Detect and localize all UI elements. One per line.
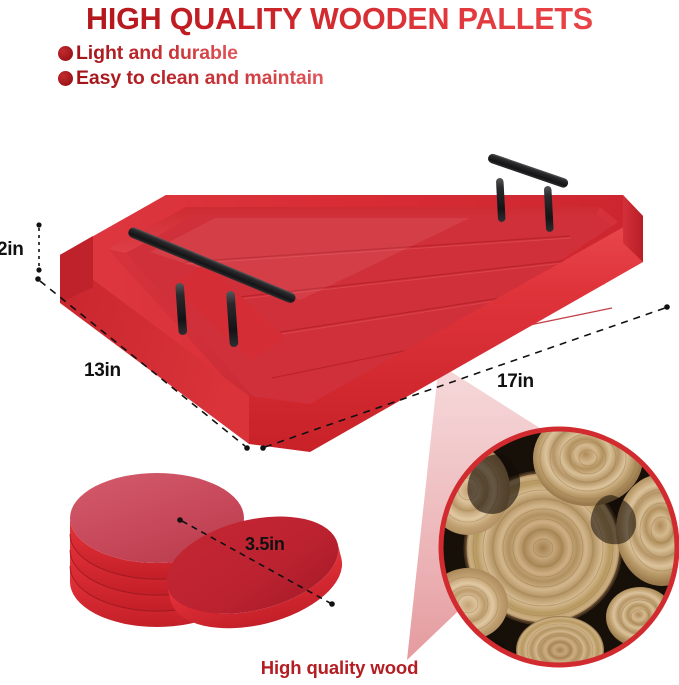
dimension-label-height: 2in <box>0 239 24 261</box>
dimension-label-depth: 13in <box>84 360 121 382</box>
wood-ring <box>533 410 643 506</box>
coaster-stack <box>70 473 352 645</box>
infographic-page: HIGH QUALITY WOODEN PALLETS Light and du… <box>0 0 679 685</box>
dimension-endpoint <box>664 304 670 310</box>
dimension-endpoint <box>260 445 266 451</box>
dimension-endpoint <box>36 222 41 227</box>
dimension-endpoint <box>36 267 41 272</box>
product-illustration <box>0 0 679 685</box>
dimension-endpoint <box>177 517 183 523</box>
serving-tray <box>60 153 643 452</box>
dimension-label-width: 17in <box>497 371 534 393</box>
wood-closeup-caption: High quality wood <box>0 657 679 679</box>
dimension-endpoint <box>244 445 250 451</box>
dimension-endpoint <box>35 276 41 282</box>
dimension-label-coaster: 3.5in <box>245 534 285 555</box>
dimension-endpoint <box>329 601 335 607</box>
